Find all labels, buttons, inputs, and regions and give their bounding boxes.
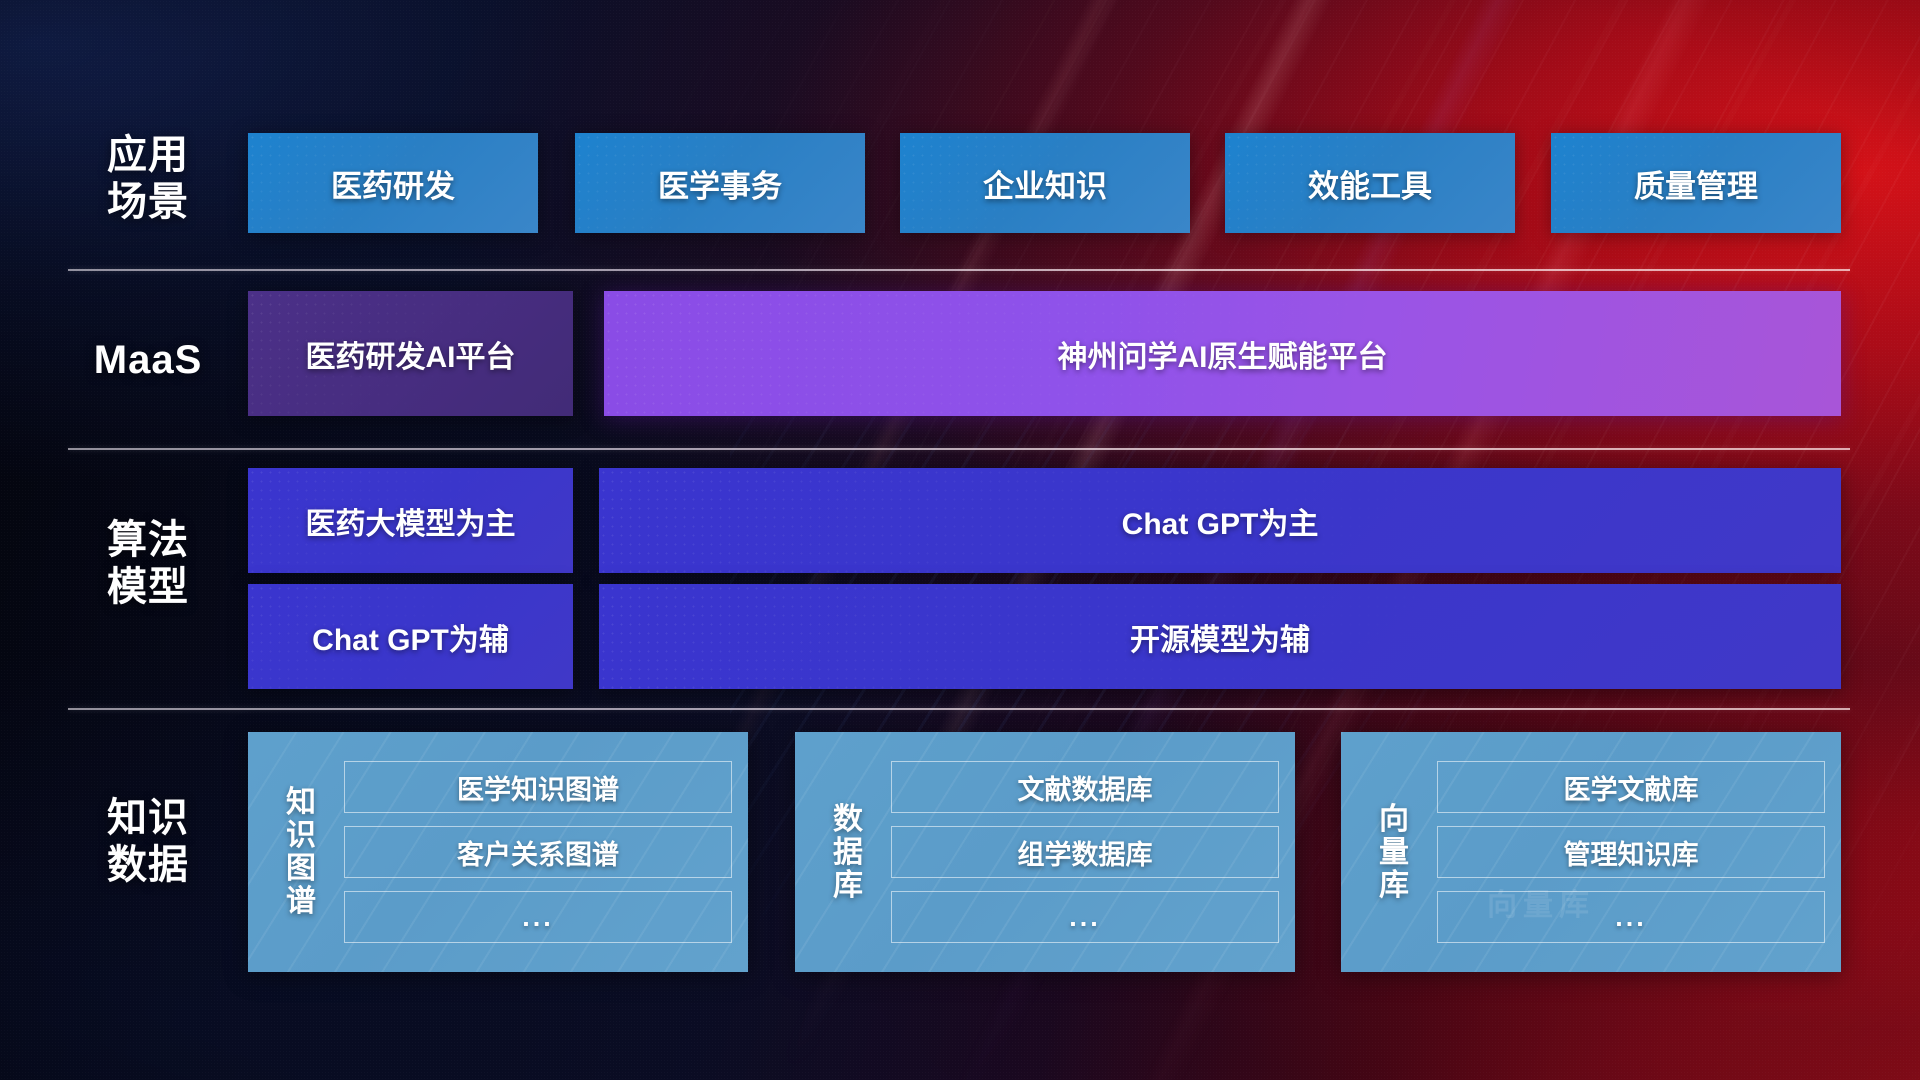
maas-cell-shenzhou[interactable]: 神州问学AI原生赋能平台 (604, 291, 1841, 416)
knowledge-panel-2-items: 医学文献库 管理知识库 ... (1437, 761, 1825, 943)
knowledge-panel-1-title: 数 据 库 (817, 803, 879, 902)
knowledge-item-label: 客户关系图谱 (457, 833, 619, 872)
divider-1 (68, 269, 1850, 271)
row-label-maas: MaaS (68, 337, 228, 384)
knowledge-panel-1[interactable]: 数 据 库 文献数据库 组学数据库 ... (795, 732, 1295, 972)
knowledge-item-label: 组学数据库 (1018, 833, 1153, 872)
knowledge-panel-1-items: 文献数据库 组学数据库 ... (891, 761, 1279, 943)
knowledge-item-label: 医学文献库 (1564, 768, 1699, 807)
knowledge-item[interactable]: 客户关系图谱 (344, 826, 732, 878)
app-cell-4-label: 质量管理 (1634, 161, 1758, 206)
app-cell-4[interactable]: 质量管理 (1551, 133, 1841, 233)
row-label-knowledge: 知识 数据 (68, 795, 228, 889)
knowledge-item-label: ... (1069, 902, 1101, 933)
row-label-application: 应用 场景 (68, 132, 228, 226)
knowledge-item-label: 管理知识库 (1564, 833, 1699, 872)
divider-3 (68, 708, 1850, 710)
app-cell-0[interactable]: 医药研发 (248, 133, 538, 233)
app-cell-0-label: 医药研发 (331, 161, 455, 206)
knowledge-item[interactable]: ... (1437, 891, 1825, 943)
algo-cell-r1-c1[interactable]: 开源模型为辅 (599, 584, 1841, 689)
app-cell-2-label: 企业知识 (983, 161, 1107, 206)
knowledge-panel-0[interactable]: 知 识 图 谱 医学知识图谱 客户关系图谱 ... (248, 732, 748, 972)
architecture-diagram: 应用 场景 医药研发 医学事务 企业知识 效能工具 质量管理 MaaS 医药研发… (0, 0, 1920, 1080)
knowledge-item[interactable]: 医学知识图谱 (344, 761, 732, 813)
algo-cell-r0-c0-label: 医药大模型为主 (306, 499, 516, 543)
knowledge-item-label: 医学知识图谱 (457, 768, 619, 807)
knowledge-item[interactable]: 组学数据库 (891, 826, 1279, 878)
algo-cell-r0-c1-label: Chat GPT为主 (1122, 499, 1319, 543)
knowledge-panel-0-title: 知 识 图 谱 (270, 786, 332, 918)
knowledge-item[interactable]: 文献数据库 (891, 761, 1279, 813)
knowledge-item-label: 文献数据库 (1018, 768, 1153, 807)
divider-2 (68, 448, 1850, 450)
knowledge-item[interactable]: ... (344, 891, 732, 943)
knowledge-item[interactable]: 管理知识库 (1437, 826, 1825, 878)
app-cell-1[interactable]: 医学事务 (575, 133, 865, 233)
row-label-algorithm: 算法 模型 (68, 517, 228, 611)
app-cell-3[interactable]: 效能工具 (1225, 133, 1515, 233)
knowledge-panel-2[interactable]: 向 量 库 医学文献库 管理知识库 ... (1341, 732, 1841, 972)
algo-cell-r1-c1-label: 开源模型为辅 (1130, 615, 1310, 659)
knowledge-item-label: ... (522, 902, 554, 933)
app-cell-1-label: 医学事务 (658, 161, 782, 206)
maas-cell-shenzhou-label: 神州问学AI原生赋能平台 (1058, 332, 1388, 376)
algo-cell-r1-c0-label: Chat GPT为辅 (312, 615, 509, 659)
app-cell-3-label: 效能工具 (1308, 161, 1432, 206)
algo-cell-r1-c0[interactable]: Chat GPT为辅 (248, 584, 573, 689)
knowledge-panel-2-title: 向 量 库 (1363, 803, 1425, 902)
maas-cell-platform-label: 医药研发AI平台 (306, 332, 516, 376)
knowledge-panel-0-items: 医学知识图谱 客户关系图谱 ... (344, 761, 732, 943)
algo-cell-r0-c1[interactable]: Chat GPT为主 (599, 468, 1841, 573)
knowledge-item-label: ... (1615, 902, 1647, 933)
maas-cell-platform[interactable]: 医药研发AI平台 (248, 291, 573, 416)
knowledge-item[interactable]: ... (891, 891, 1279, 943)
algo-cell-r0-c0[interactable]: 医药大模型为主 (248, 468, 573, 573)
knowledge-item[interactable]: 医学文献库 (1437, 761, 1825, 813)
app-cell-2[interactable]: 企业知识 (900, 133, 1190, 233)
